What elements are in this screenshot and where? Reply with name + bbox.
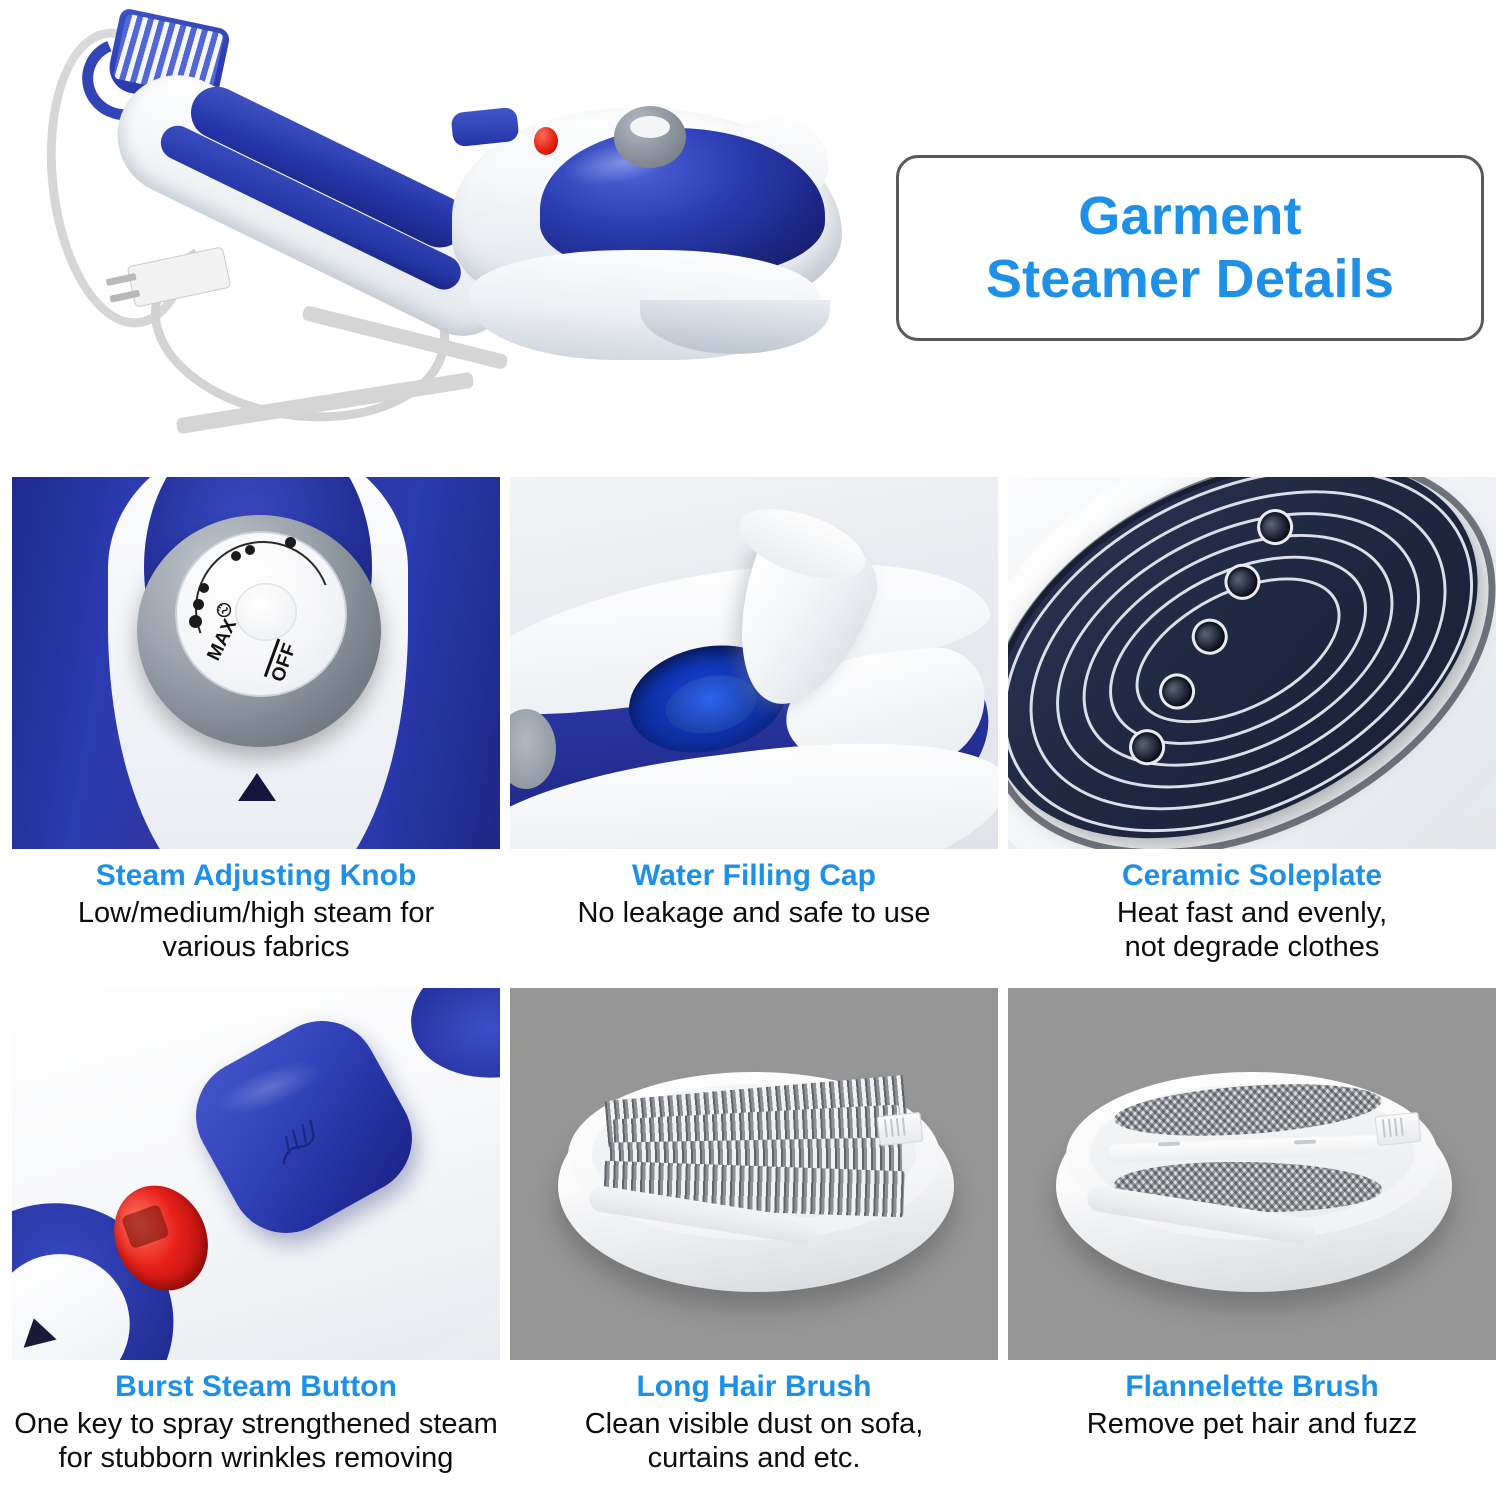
photo-burst-steam-button [12, 988, 500, 1360]
caption-title: Long Hair Brush [510, 1369, 998, 1405]
caption-burst-steam-button: Burst Steam Button One key to spray stre… [12, 1360, 500, 1475]
knob-hub [235, 583, 297, 641]
caption-desc: Low/medium/high steam for various fabric… [12, 896, 500, 964]
feature-row-bottom: Burst Steam Button One key to spray stre… [0, 988, 1500, 1475]
flannel-bar-notch-right [1294, 1140, 1316, 1145]
feature-cell-burst-steam-button: Burst Steam Button One key to spray stre… [12, 988, 500, 1475]
knob-dot-1 [285, 537, 296, 548]
feature-cell-flannelette-brush: Flannelette Brush Remove pet hair and fu… [1008, 988, 1496, 1475]
alignment-triangle-marker [238, 773, 276, 801]
photo-long-hair-brush [510, 988, 998, 1360]
feature-cell-ceramic-soleplate: Ceramic Soleplate Heat fast and evenly, … [1008, 477, 1496, 964]
water-fill-opening-inner [660, 668, 762, 742]
photo-steam-adjusting-knob: MAX OFF [12, 477, 500, 849]
knob-face: MAX OFF [175, 531, 347, 697]
caption-water-filling-cap: Water Filling Cap No leakage and safe to… [510, 849, 998, 930]
steam-burst-icon [257, 1100, 344, 1181]
caption-steam-adjusting-knob: Steam Adjusting Knob Low/medium/high ste… [12, 849, 500, 964]
knob-dot-4 [199, 583, 209, 593]
hero-product-photo [0, 0, 880, 470]
burst-steam-button-hero[interactable] [450, 107, 519, 148]
photo-flannelette-brush [1008, 988, 1496, 1360]
caption-title: Ceramic Soleplate [1008, 858, 1496, 894]
knob-dot-5 [193, 599, 204, 610]
knob-dot-3 [231, 551, 241, 561]
knob-dot-2 [245, 545, 255, 555]
brush-mounting-clip [877, 1112, 924, 1146]
title-badge: Garment Steamer Details [896, 155, 1484, 341]
caption-desc: No leakage and safe to use [510, 896, 998, 930]
photo-ceramic-soleplate [1008, 477, 1496, 849]
caption-long-hair-brush: Long Hair Brush Clean visible dust on so… [510, 1360, 998, 1475]
caption-title: Water Filling Cap [510, 858, 998, 894]
title-line-2: Steamer Details [986, 248, 1394, 311]
hero-section: Garment Steamer Details [0, 0, 1500, 470]
feature-cell-steam-adjusting-knob: MAX OFF Steam Adjusting Knob Low/medium/… [12, 477, 500, 964]
indicator-light-hero [534, 127, 558, 155]
steam-knob-hero[interactable] [614, 106, 686, 168]
caption-title: Flannelette Brush [1008, 1369, 1496, 1405]
flannel-bar-notch-left [1158, 1142, 1180, 1147]
photo-water-filling-cap [510, 477, 998, 849]
steam-adjusting-knob[interactable]: MAX OFF [137, 515, 381, 747]
feature-cell-water-filling-cap: Water Filling Cap No leakage and safe to… [510, 477, 998, 964]
feature-row-top: MAX OFF Steam Adjusting Knob Low/medium/… [0, 477, 1500, 964]
caption-desc: Heat fast and evenly, not degrade clothe… [1008, 896, 1496, 964]
knob-dot-6 [189, 615, 202, 628]
caption-flannelette-brush: Flannelette Brush Remove pet hair and fu… [1008, 1360, 1496, 1441]
caption-title: Burst Steam Button [12, 1369, 500, 1405]
caption-desc: Remove pet hair and fuzz [1008, 1407, 1496, 1441]
caption-desc: Clean visible dust on sofa, curtains and… [510, 1407, 998, 1475]
feature-cell-long-hair-brush: Long Hair Brush Clean visible dust on so… [510, 988, 998, 1475]
brush-mounting-clip [1375, 1112, 1422, 1146]
caption-desc: One key to spray strengthened steam for … [12, 1407, 500, 1475]
caption-title: Steam Adjusting Knob [12, 858, 500, 894]
caption-ceramic-soleplate: Ceramic Soleplate Heat fast and evenly, … [1008, 849, 1496, 964]
title-line-1: Garment [1078, 185, 1301, 248]
